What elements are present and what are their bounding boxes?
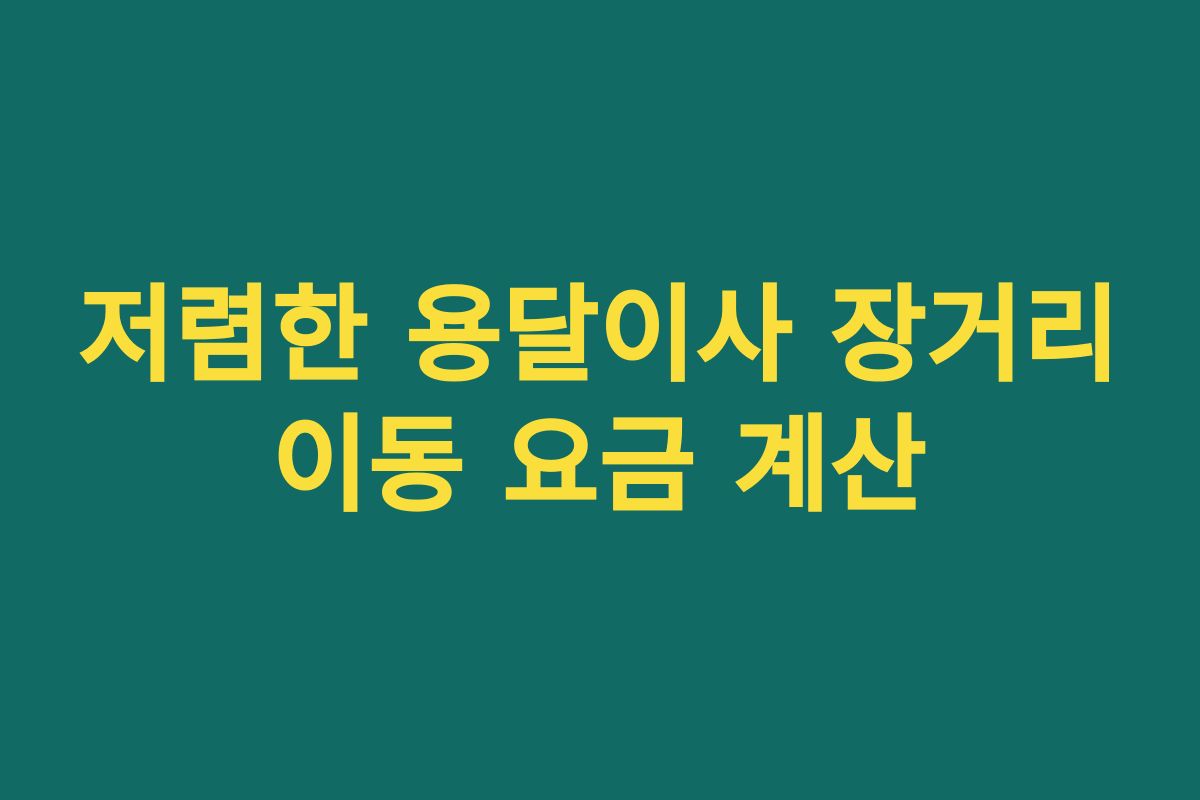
- headline-line-2: 이동 요금 계산: [0, 400, 1200, 530]
- banner-card: 저렴한 용달이사 장거리 이동 요금 계산: [0, 0, 1200, 800]
- headline-block: 저렴한 용달이사 장거리 이동 요금 계산: [0, 0, 1200, 800]
- headline-line-1: 저렴한 용달이사 장거리: [0, 270, 1200, 400]
